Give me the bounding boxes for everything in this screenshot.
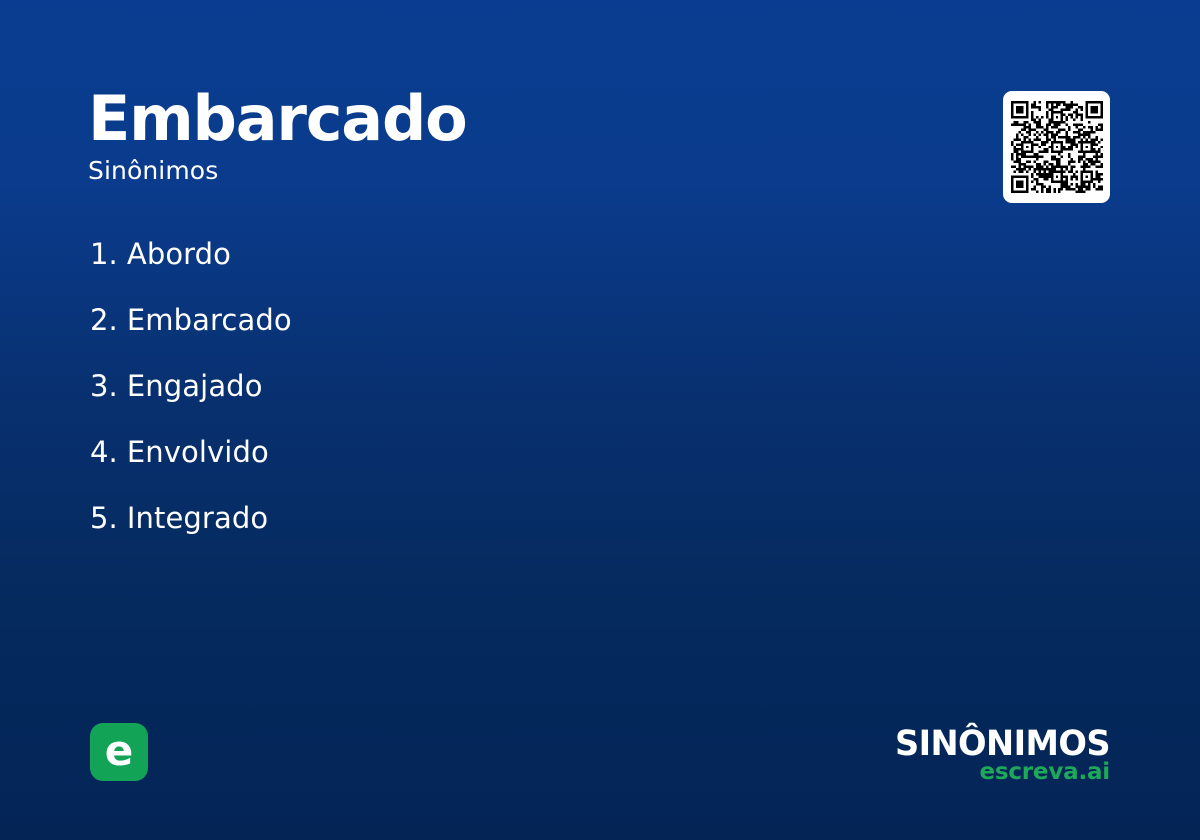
list-item-index: 5. xyxy=(90,500,118,536)
list-item: 2. Embarcado xyxy=(90,302,292,368)
qr-code-icon xyxy=(1011,101,1103,193)
list-item: 3. Engajado xyxy=(90,368,292,434)
list-item: 5. Integrado xyxy=(90,500,292,566)
header: Embarcado Sinônimos xyxy=(88,86,467,185)
list-item-word: Envolvido xyxy=(127,434,269,470)
page-title: Embarcado xyxy=(88,86,467,151)
list-item: 1. Abordo xyxy=(90,236,292,302)
list-item-word: Abordo xyxy=(127,236,231,272)
list-item-word: Embarcado xyxy=(127,302,292,338)
list-item-word: Engajado xyxy=(127,368,263,404)
list-item-index: 1. xyxy=(90,236,118,272)
list-item-index: 2. xyxy=(90,302,118,338)
page-subtitle: Sinônimos xyxy=(88,157,467,185)
list-item: 4. Envolvido xyxy=(90,434,292,500)
list-item-word: Integrado xyxy=(127,500,268,536)
brand-logo-name: SINÔNIMOS xyxy=(895,726,1110,762)
synonym-list: 1. Abordo 2. Embarcado 3. Engajado 4. En… xyxy=(90,236,292,566)
list-item-index: 4. xyxy=(90,434,118,470)
qr-code[interactable] xyxy=(1003,91,1110,203)
list-item-index: 3. xyxy=(90,368,118,404)
brand-mark-letter: e xyxy=(105,730,134,772)
escreva-e-logo-icon[interactable]: e xyxy=(90,723,148,781)
brand-logo[interactable]: SINÔNIMOS escreva.ai xyxy=(886,726,1110,784)
synonym-card: Embarcado Sinônimos 1. Abordo 2. Embarca… xyxy=(0,0,1200,840)
